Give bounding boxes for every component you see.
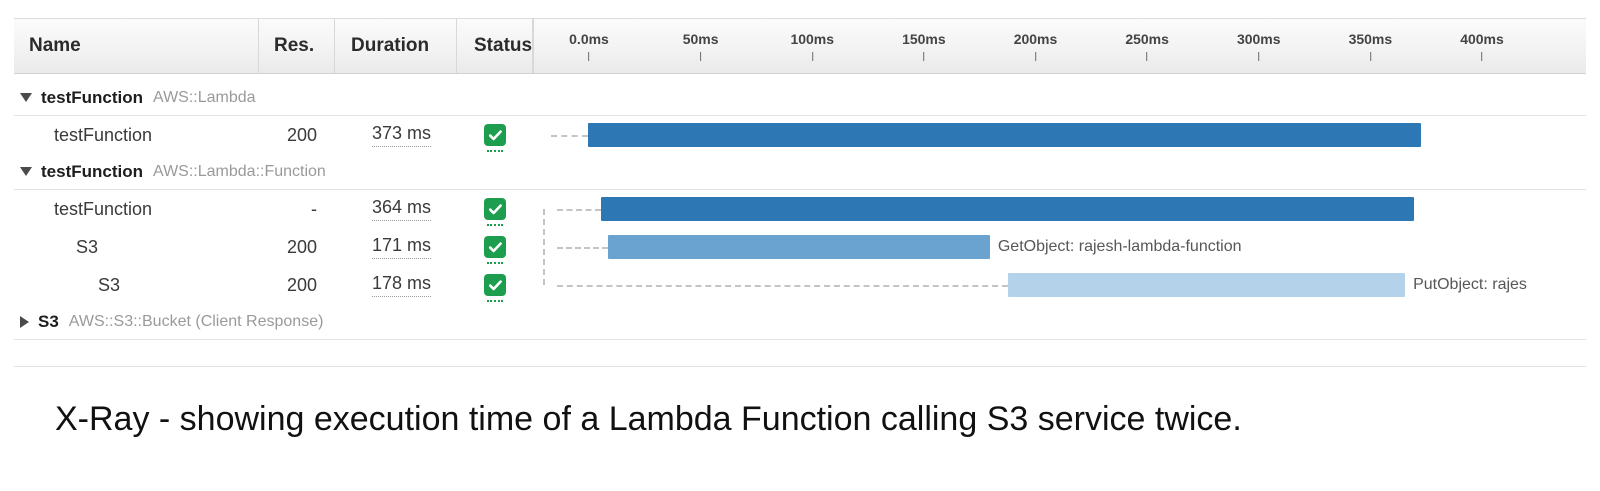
- segment-group-title: testFunction: [41, 88, 143, 108]
- row-status-cell: [457, 116, 533, 154]
- timeline-connector-line: [551, 135, 588, 137]
- row-timeline-lane: PutObject: rajes: [533, 266, 1586, 304]
- row-name: testFunction: [14, 190, 259, 228]
- timeline-tick-label: 300ms: [1237, 32, 1281, 46]
- segment-group-header[interactable]: testFunctionAWS::Lambda::Function: [14, 154, 1586, 190]
- column-header-name-label: Name: [29, 35, 81, 57]
- chevron-down-icon[interactable]: [20, 93, 32, 102]
- panel-bottom-divider: [14, 366, 1586, 367]
- row-status-cell: [457, 228, 533, 266]
- segment-group-header[interactable]: testFunctionAWS::Lambda: [14, 80, 1586, 116]
- row-name: S3: [14, 228, 259, 266]
- row-timeline-lane: [533, 190, 1586, 228]
- timeline-connector-trunk: [543, 209, 545, 285]
- row-duration-cell: 364 ms: [335, 190, 457, 228]
- status-ok-icon[interactable]: [484, 198, 506, 220]
- table-row[interactable]: testFunction200373 ms: [14, 116, 1586, 154]
- timeline-tick-label: 50ms: [683, 32, 719, 46]
- column-header-duration[interactable]: Duration: [335, 19, 457, 73]
- timeline-tick: 400ms: [1460, 19, 1504, 73]
- timeline-tick: 300ms: [1237, 19, 1281, 73]
- timeline-tick-mark: [1482, 52, 1483, 61]
- timeline-tick-label: 150ms: [902, 32, 946, 46]
- timeline-tick-mark: [1035, 52, 1036, 61]
- timeline-tick: 350ms: [1349, 19, 1393, 73]
- timeline-tick: 0.0ms: [569, 19, 609, 73]
- segment-group-type: AWS::Lambda::Function: [153, 163, 326, 181]
- timeline-tick-label: 100ms: [790, 32, 834, 46]
- timeline-tick-mark: [588, 52, 589, 61]
- table-row[interactable]: testFunction-364 ms: [14, 190, 1586, 228]
- chevron-down-icon[interactable]: [20, 167, 32, 176]
- timeline-tick-label: 0.0ms: [569, 32, 609, 46]
- timeline-tick-mark: [1258, 52, 1259, 61]
- timeline-tick: 200ms: [1014, 19, 1058, 73]
- timeline-bar[interactable]: [1008, 273, 1405, 297]
- timeline-tick-label: 250ms: [1125, 32, 1169, 46]
- segment-group-type: AWS::Lambda: [153, 89, 256, 107]
- column-header-status[interactable]: Status: [457, 19, 533, 73]
- row-response-code: 200: [259, 228, 335, 266]
- row-status-cell: [457, 266, 533, 304]
- timeline-bar-label: PutObject: rajes: [1413, 276, 1527, 294]
- timeline-tick-label: 200ms: [1014, 32, 1058, 46]
- timeline-bar-label: GetObject: rajesh-lambda-function: [998, 238, 1242, 256]
- row-response-code: 200: [259, 266, 335, 304]
- row-duration[interactable]: 178 ms: [372, 273, 431, 297]
- chevron-right-icon[interactable]: [20, 316, 29, 328]
- row-duration[interactable]: 171 ms: [372, 235, 431, 259]
- column-header-duration-label: Duration: [351, 35, 429, 57]
- table-row[interactable]: S3200171 msGetObject: rajesh-lambda-func…: [14, 228, 1586, 266]
- timeline-tick: 250ms: [1125, 19, 1169, 73]
- figure-caption: X-Ray - showing execution time of a Lamb…: [55, 400, 1242, 439]
- column-header-res[interactable]: Res.: [259, 19, 335, 73]
- segment-group-header[interactable]: S3AWS::S3::Bucket (Client Response): [14, 304, 1586, 340]
- column-header-res-label: Res.: [274, 35, 314, 57]
- row-response-code: 200: [259, 116, 335, 154]
- timeline-tick-mark: [812, 52, 813, 61]
- row-response-code: -: [259, 190, 335, 228]
- status-ok-icon[interactable]: [484, 236, 506, 258]
- xray-trace-panel: Name Res. Duration Status 0.0ms50ms100ms…: [0, 0, 1600, 370]
- timeline-tick-mark: [1370, 52, 1371, 61]
- row-duration[interactable]: 373 ms: [372, 123, 431, 147]
- row-timeline-lane: [533, 116, 1586, 154]
- timeline-tick-label: 400ms: [1460, 32, 1504, 46]
- timeline-tick-mark: [700, 52, 701, 61]
- timeline-tick-mark: [923, 52, 924, 61]
- row-status-cell: [457, 190, 533, 228]
- row-name: S3: [14, 266, 259, 304]
- table-header: Name Res. Duration Status 0.0ms50ms100ms…: [14, 18, 1586, 74]
- row-duration[interactable]: 364 ms: [372, 197, 431, 221]
- timeline-connector-line: [557, 285, 1008, 287]
- timeline-bar[interactable]: [608, 235, 990, 259]
- column-header-name[interactable]: Name: [14, 19, 259, 73]
- timeline-tick: 100ms: [790, 19, 834, 73]
- table-row[interactable]: S3200178 msPutObject: rajes: [14, 266, 1586, 304]
- timeline-tick: 50ms: [683, 19, 719, 73]
- segment-group-title: testFunction: [41, 162, 143, 182]
- row-duration-cell: 373 ms: [335, 116, 457, 154]
- status-ok-icon[interactable]: [484, 274, 506, 296]
- timeline-axis: 0.0ms50ms100ms150ms200ms250ms300ms350ms4…: [533, 19, 1586, 73]
- segment-group-type: AWS::S3::Bucket (Client Response): [69, 313, 324, 331]
- timeline-connector-line: [557, 209, 601, 211]
- timeline-connector-line: [557, 247, 608, 249]
- timeline-tick: 150ms: [902, 19, 946, 73]
- timeline-tick-label: 350ms: [1349, 32, 1393, 46]
- status-ok-icon[interactable]: [484, 124, 506, 146]
- timeline-bar[interactable]: [588, 123, 1421, 147]
- row-timeline-lane: GetObject: rajesh-lambda-function: [533, 228, 1586, 266]
- timeline-bar[interactable]: [601, 197, 1414, 221]
- row-duration-cell: 171 ms: [335, 228, 457, 266]
- row-duration-cell: 178 ms: [335, 266, 457, 304]
- column-header-status-label: Status: [474, 35, 532, 57]
- timeline-tick-mark: [1147, 52, 1148, 61]
- row-name: testFunction: [14, 116, 259, 154]
- segment-group-title: S3: [38, 312, 59, 332]
